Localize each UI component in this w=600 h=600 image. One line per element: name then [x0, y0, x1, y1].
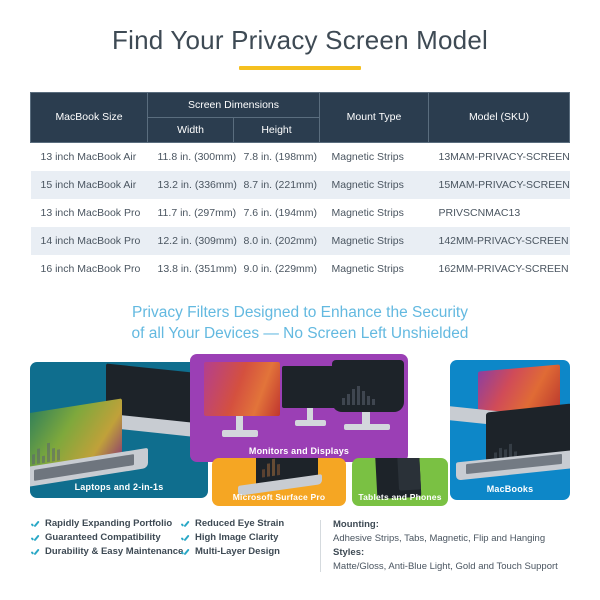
list-item: Rapidly Expanding Portfolio — [30, 518, 180, 529]
cell-mount-type: Magnetic Strips — [320, 199, 429, 227]
cell-model-sku: 13MAM-PRIVACY-SCREEN — [429, 142, 570, 171]
table-row: 14 inch MacBook Pro 12.2 in. (309mm) 8.0… — [31, 227, 570, 255]
list-item: Multi-Layer Design — [180, 546, 320, 557]
page-title: Find Your Privacy Screen Model — [0, 26, 600, 55]
vertical-divider — [320, 520, 321, 572]
category-panel-surface-pro[interactable]: Microsoft Surface Pro — [212, 458, 346, 506]
feature-label: Rapidly Expanding Portfolio — [45, 518, 172, 529]
table-row: 15 inch MacBook Air 13.2 in. (336mm) 8.7… — [31, 171, 570, 199]
cell-model-sku: PRIVSCNMAC13 — [429, 199, 570, 227]
list-item: High Image Clarity — [180, 532, 320, 543]
cell-macbook-size: 13 inch MacBook Air — [31, 142, 148, 171]
cell-height: 7.6 in. (194mm) — [234, 199, 320, 227]
col-header-height: Height — [234, 117, 320, 142]
feature-column-benefits: Rapidly Expanding Portfolio Guaranteed C… — [30, 518, 180, 557]
check-icon — [180, 547, 190, 557]
cell-height: 8.0 in. (202mm) — [234, 227, 320, 255]
subheading-line-1: Privacy Filters Designed to Enhance the … — [0, 303, 600, 324]
product-info-page: Find Your Privacy Screen Model MacBook S… — [0, 0, 600, 600]
list-item: Reduced Eye Strain — [180, 518, 320, 529]
check-icon — [180, 519, 190, 529]
panel-caption-macbooks: MacBooks — [450, 484, 570, 494]
title-underline-rule — [239, 66, 361, 70]
monitor-right-stand-base — [344, 424, 390, 430]
check-icon — [30, 533, 40, 543]
monitor-right-curved-screen — [332, 360, 404, 412]
page-header: Find Your Privacy Screen Model — [0, 0, 600, 70]
col-header-model-sku: Model (SKU) — [429, 92, 570, 142]
col-header-mount-type: Mount Type — [320, 92, 429, 142]
cell-model-sku: 15MAM-PRIVACY-SCREEN — [429, 171, 570, 199]
panel-caption-laptops: Laptops and 2-in-1s — [30, 482, 208, 492]
product-category-collage: Laptops and 2-in-1s Monitors and Display… — [30, 354, 570, 506]
feature-column-performance: Reduced Eye Strain High Image Clarity Mu… — [180, 518, 320, 557]
cell-width: 11.8 in. (300mm) — [148, 142, 234, 171]
monitor-left-filtered-screen — [204, 362, 280, 416]
styles-value: Matte/Gloss, Anti-Blue Light, Gold and T… — [333, 560, 558, 574]
table-header-row-group: MacBook Size Screen Dimensions Mount Typ… — [31, 92, 570, 117]
cell-width: 13.8 in. (351mm) — [148, 255, 234, 283]
col-group-header-screen-dimensions: Screen Dimensions — [148, 92, 320, 117]
monitor-left-stand-base — [222, 430, 258, 437]
mounting-label: Mounting: — [333, 518, 558, 532]
cell-width: 11.7 in. (297mm) — [148, 199, 234, 227]
panel-caption-surface-pro: Microsoft Surface Pro — [212, 492, 346, 502]
feature-label: High Image Clarity — [195, 532, 278, 543]
screen-content-bars — [342, 386, 394, 410]
cell-model-sku: 142MM-PRIVACY-SCREEN — [429, 227, 570, 255]
panel-caption-tablets-phones: Tablets and Phones — [352, 492, 448, 502]
phone-screen — [397, 458, 421, 491]
cell-height: 9.0 in. (229mm) — [234, 255, 320, 283]
check-icon — [30, 519, 40, 529]
cell-height: 8.7 in. (221mm) — [234, 171, 320, 199]
category-panel-monitors[interactable]: Monitors and Displays — [190, 354, 408, 462]
col-header-width: Width — [148, 117, 234, 142]
marketing-subheading: Privacy Filters Designed to Enhance the … — [0, 303, 600, 345]
table-row: 16 inch MacBook Pro 13.8 in. (351mm) 9.0… — [31, 255, 570, 283]
category-panel-macbooks[interactable]: MacBooks — [450, 360, 570, 500]
cell-width: 12.2 in. (309mm) — [148, 227, 234, 255]
cell-macbook-size: 15 inch MacBook Air — [31, 171, 148, 199]
feature-summary: Rapidly Expanding Portfolio Guaranteed C… — [30, 518, 570, 574]
cell-macbook-size: 13 inch MacBook Pro — [31, 199, 148, 227]
check-icon — [180, 533, 190, 543]
table-body: 13 inch MacBook Air 11.8 in. (300mm) 7.8… — [31, 142, 570, 283]
feature-label: Durability & Easy Maintenance — [45, 546, 183, 557]
privacy-screen-spec-table: MacBook Size Screen Dimensions Mount Typ… — [30, 92, 570, 283]
feature-label: Guaranteed Compatibility — [45, 532, 161, 543]
list-item: Guaranteed Compatibility — [30, 532, 180, 543]
category-panel-tablets-phones[interactable]: Tablets and Phones — [352, 458, 448, 506]
mounting-value: Adhesive Strips, Tabs, Magnetic, Flip an… — [333, 532, 558, 546]
monitor-center-stand-base — [295, 420, 326, 426]
table-head: MacBook Size Screen Dimensions Mount Typ… — [31, 92, 570, 142]
table-row: 13 inch MacBook Pro 11.7 in. (297mm) 7.6… — [31, 199, 570, 227]
subheading-line-2: of all Your Devices — No Screen Left Uns… — [0, 324, 600, 345]
table-row: 13 inch MacBook Air 11.8 in. (300mm) 7.8… — [31, 142, 570, 171]
feature-label: Reduced Eye Strain — [195, 518, 284, 529]
panel-caption-monitors: Monitors and Displays — [190, 446, 408, 456]
category-panel-laptops[interactable]: Laptops and 2-in-1s — [30, 362, 208, 498]
cell-width: 13.2 in. (336mm) — [148, 171, 234, 199]
feature-label: Multi-Layer Design — [195, 546, 280, 557]
mounting-styles-column: Mounting: Adhesive Strips, Tabs, Magneti… — [333, 518, 558, 573]
cell-model-sku: 162MM-PRIVACY-SCREEN — [429, 255, 570, 283]
col-header-macbook-size: MacBook Size — [31, 92, 148, 142]
styles-label: Styles: — [333, 546, 558, 560]
spec-table-container: MacBook Size Screen Dimensions Mount Typ… — [30, 92, 570, 283]
cell-height: 7.8 in. (198mm) — [234, 142, 320, 171]
cell-mount-type: Magnetic Strips — [320, 171, 429, 199]
cell-mount-type: Magnetic Strips — [320, 255, 429, 283]
check-icon — [30, 547, 40, 557]
cell-macbook-size: 14 inch MacBook Pro — [31, 227, 148, 255]
cell-mount-type: Magnetic Strips — [320, 227, 429, 255]
list-item: Durability & Easy Maintenance — [30, 546, 180, 557]
cell-macbook-size: 16 inch MacBook Pro — [31, 255, 148, 283]
cell-mount-type: Magnetic Strips — [320, 142, 429, 171]
